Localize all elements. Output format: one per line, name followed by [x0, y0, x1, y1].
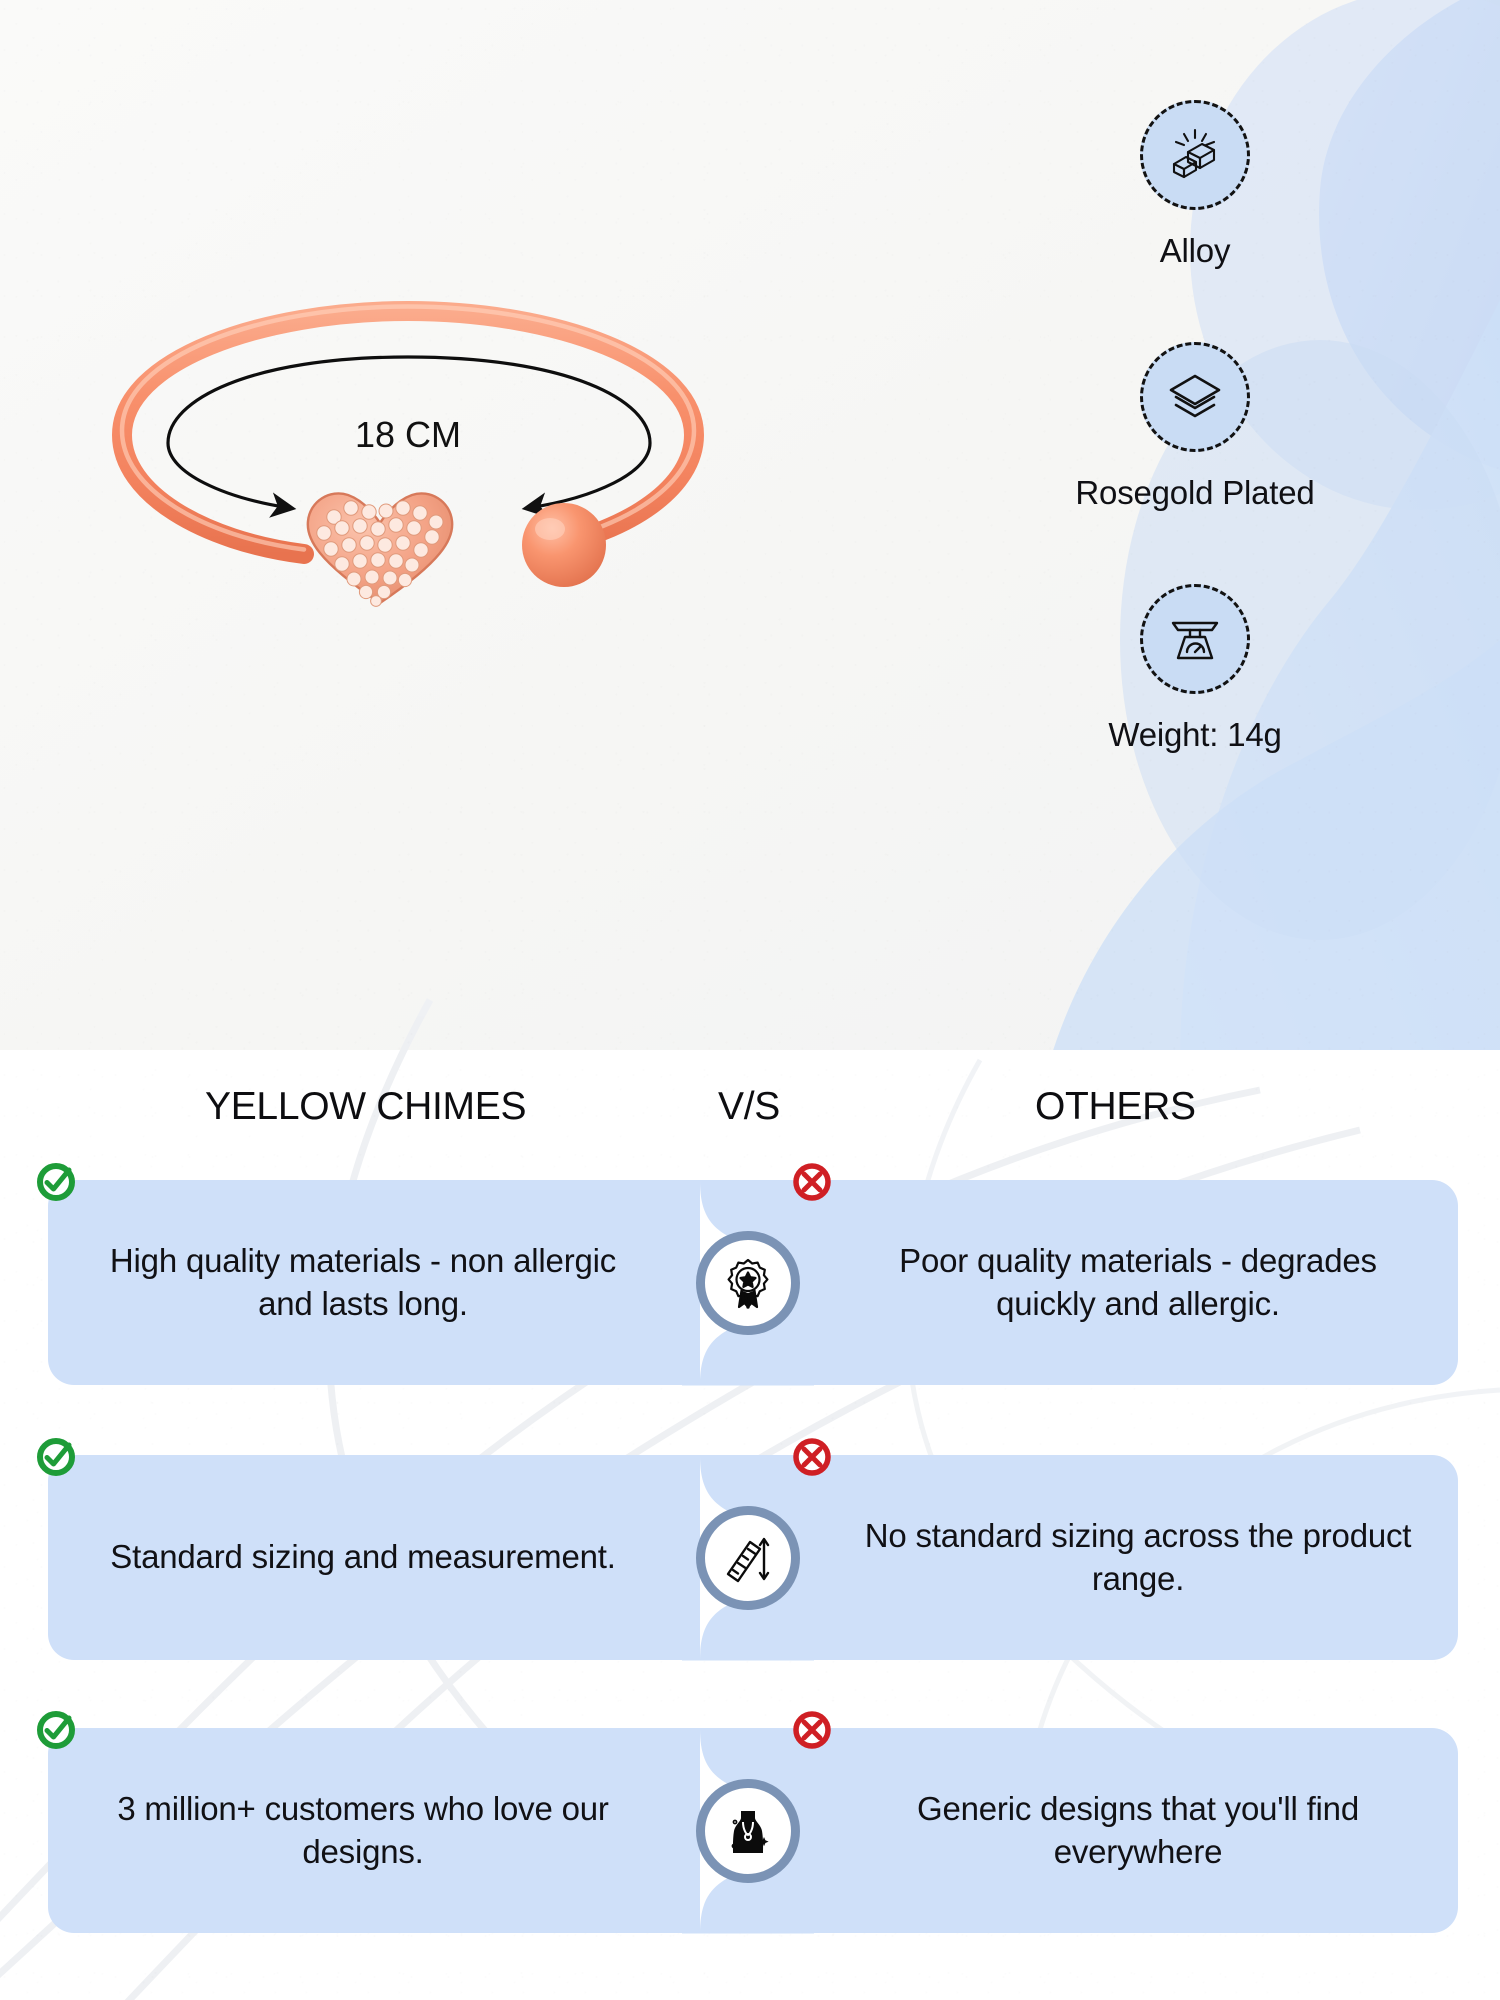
check-mark-icon — [36, 1437, 76, 1477]
quality-badge-icon — [696, 1231, 800, 1335]
comparison-text-ours: Standard sizing and measurement. — [110, 1536, 615, 1579]
spec-label-plating: Rosegold Plated — [1075, 474, 1314, 512]
product-spec-list: Alloy Rosegold Plated — [1030, 100, 1360, 754]
kitchen-scale-icon — [1140, 584, 1250, 694]
bracelet-illustration: 18 CM — [90, 295, 790, 655]
comparison-row: Standard sizing and measurement. No stan… — [0, 1455, 1500, 1660]
spec-item-alloy: Alloy — [1140, 100, 1250, 270]
spec-item-weight: Weight: 14g — [1108, 584, 1281, 754]
cross-mark-icon — [792, 1437, 832, 1477]
header-yellow-chimes: YELLOW CHIMES — [205, 1085, 526, 1129]
rosegold-ball-terminal — [522, 503, 606, 587]
comparison-cell-theirs: Generic designs that you'll find everywh… — [748, 1728, 1458, 1933]
header-others: OTHERS — [1035, 1085, 1196, 1129]
bracelet-svg: 18 CM — [90, 295, 790, 655]
comparison-text-ours: 3 million+ customers who love our design… — [88, 1788, 638, 1874]
layers-icon — [1140, 342, 1250, 452]
bracelet-measurement-label: 18 CM — [355, 414, 461, 455]
comparison-text-ours: High quality materials - non allergic an… — [88, 1240, 638, 1326]
ruler-measure-icon — [696, 1506, 800, 1610]
comparison-cell-theirs: Poor quality materials - degrades quickl… — [748, 1180, 1458, 1385]
hero-product-section: 18 CM — [0, 0, 1500, 1060]
crystal-pave-heart-charm — [308, 493, 452, 606]
cross-mark-icon — [792, 1710, 832, 1750]
comparison-text-theirs: No standard sizing across the product ra… — [858, 1515, 1418, 1601]
spec-item-plating: Rosegold Plated — [1075, 342, 1314, 512]
comparison-section: YELLOW CHIMES V/S OTHERS High quality ma… — [0, 1060, 1500, 2000]
comparison-cell-ours: 3 million+ customers who love our design… — [48, 1728, 748, 1933]
spec-label-weight: Weight: 14g — [1108, 716, 1281, 754]
comparison-cell-ours: High quality materials - non allergic an… — [48, 1180, 748, 1385]
comparison-headers: YELLOW CHIMES V/S OTHERS — [0, 1085, 1500, 1155]
necklace-bust-icon — [696, 1779, 800, 1883]
comparison-row: High quality materials - non allergic an… — [0, 1180, 1500, 1385]
spec-label-alloy: Alloy — [1160, 232, 1231, 270]
header-vs: V/S — [718, 1085, 780, 1129]
check-mark-icon — [36, 1710, 76, 1750]
comparison-text-theirs: Poor quality materials - degrades quickl… — [858, 1240, 1418, 1326]
comparison-cell-ours: Standard sizing and measurement. — [48, 1455, 748, 1660]
check-mark-icon — [36, 1162, 76, 1202]
cross-mark-icon — [792, 1162, 832, 1202]
gold-bars-icon — [1140, 100, 1250, 210]
comparison-text-theirs: Generic designs that you'll find everywh… — [858, 1788, 1418, 1874]
comparison-row: 3 million+ customers who love our design… — [0, 1728, 1500, 1933]
comparison-cell-theirs: No standard sizing across the product ra… — [748, 1455, 1458, 1660]
